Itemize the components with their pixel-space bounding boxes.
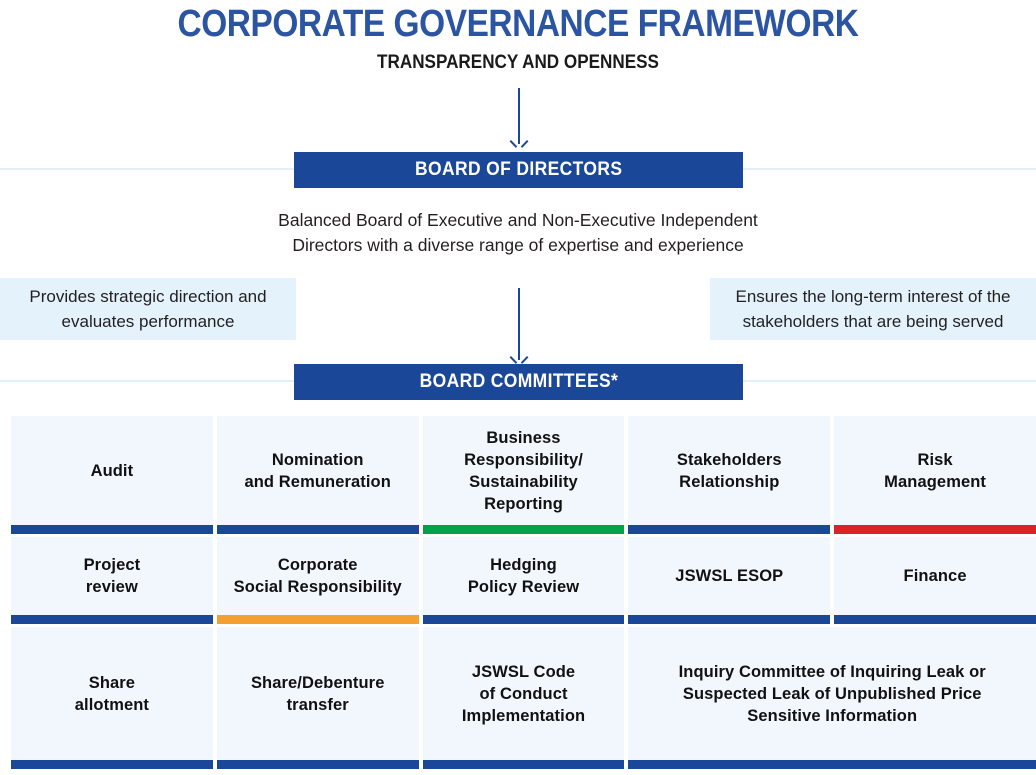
callout-stakeholder-interest: Ensures the long-term interest of the st… <box>710 278 1036 340</box>
callout-left-text: Provides strategic direction and evaluat… <box>10 284 286 334</box>
committee-cell-accent-bar <box>628 525 830 534</box>
committee-cell-accent-bar <box>423 525 625 534</box>
committee-cell[interactable]: Inquiry Committee of Inquiring Leak or S… <box>628 627 1036 769</box>
committee-cell[interactable]: Share allotment <box>11 627 213 769</box>
committee-cell-accent-bar <box>628 760 1036 769</box>
committee-cell-accent-bar <box>217 760 419 769</box>
committee-cell-label: Corporate Social Responsibility <box>217 537 419 615</box>
committee-cell-accent-bar <box>834 615 1036 624</box>
committee-row: Share allotmentShare/Debenture transferJ… <box>11 627 1036 769</box>
committee-cell-accent-bar <box>11 760 213 769</box>
committee-cell-accent-bar <box>834 525 1036 534</box>
committee-row: AuditNomination and RemunerationBusiness… <box>11 416 1036 534</box>
committee-cell[interactable]: JSWSL ESOP <box>628 537 830 624</box>
committee-cell-label: Audit <box>11 416 213 525</box>
committee-cell-label: Share/Debenture transfer <box>217 627 419 760</box>
committee-cell-label: Hedging Policy Review <box>423 537 625 615</box>
committee-cell-accent-bar <box>423 615 625 624</box>
committee-cell-accent-bar <box>217 615 419 624</box>
page-subtitle: TRANSPARENCY AND OPENNESS <box>52 46 984 74</box>
committee-cell[interactable]: Project review <box>11 537 213 624</box>
committee-cell-accent-bar <box>11 615 213 624</box>
committee-cell[interactable]: Audit <box>11 416 213 534</box>
committee-cell-accent-bar <box>423 760 625 769</box>
committee-cell-label: JSWSL Code of Conduct Implementation <box>423 627 625 760</box>
page-header: CORPORATE GOVERNANCE FRAMEWORK TRANSPARE… <box>0 0 1036 74</box>
committee-cell[interactable]: Share/Debenture transfer <box>217 627 419 769</box>
board-of-directors-label: BOARD OF DIRECTORS <box>415 159 622 181</box>
committee-cell-label: Share allotment <box>11 627 213 760</box>
committee-cell-label: Finance <box>834 537 1036 615</box>
committee-cell-label: Project review <box>11 537 213 615</box>
committee-cell-accent-bar <box>11 525 213 534</box>
committee-cell[interactable]: Corporate Social Responsibility <box>217 537 419 624</box>
committee-cell[interactable]: Stakeholders Relationship <box>628 416 830 534</box>
connector-arrow-to-board <box>507 88 531 150</box>
connector-arrow-to-committees <box>507 288 531 366</box>
callout-strategic-direction: Provides strategic direction and evaluat… <box>0 278 296 340</box>
committee-cell[interactable]: Finance <box>834 537 1036 624</box>
committee-cell[interactable]: JSWSL Code of Conduct Implementation <box>423 627 625 769</box>
board-description-line-1: Balanced Board of Executive and Non-Exec… <box>0 208 1036 233</box>
committee-cell[interactable]: Risk Management <box>834 416 1036 534</box>
committee-cell-label: Stakeholders Relationship <box>628 416 830 525</box>
committee-cell[interactable]: Business Responsibility/ Sustainability … <box>423 416 625 534</box>
committee-grid: AuditNomination and RemunerationBusiness… <box>11 416 1036 772</box>
callout-right-text: Ensures the long-term interest of the st… <box>720 284 1026 334</box>
committee-cell-label: Business Responsibility/ Sustainability … <box>423 416 625 525</box>
committee-cell-label: Risk Management <box>834 416 1036 525</box>
committee-cell-label: Inquiry Committee of Inquiring Leak or S… <box>628 627 1036 760</box>
board-description: Balanced Board of Executive and Non-Exec… <box>0 208 1036 258</box>
committee-cell-accent-bar <box>628 615 830 624</box>
board-description-line-2: Directors with a diverse range of expert… <box>0 233 1036 258</box>
board-committees-label: BOARD COMMITTEES* <box>419 371 618 393</box>
board-of-directors-bar[interactable]: BOARD OF DIRECTORS <box>294 152 743 188</box>
committee-row: Project reviewCorporate Social Responsib… <box>11 537 1036 624</box>
committee-cell-label: Nomination and Remuneration <box>217 416 419 525</box>
page-title: CORPORATE GOVERNANCE FRAMEWORK <box>62 0 974 46</box>
committee-cell[interactable]: Hedging Policy Review <box>423 537 625 624</box>
committee-cell-accent-bar <box>217 525 419 534</box>
committee-cell-label: JSWSL ESOP <box>628 537 830 615</box>
committee-cell[interactable]: Nomination and Remuneration <box>217 416 419 534</box>
board-committees-bar[interactable]: BOARD COMMITTEES* <box>294 364 743 400</box>
